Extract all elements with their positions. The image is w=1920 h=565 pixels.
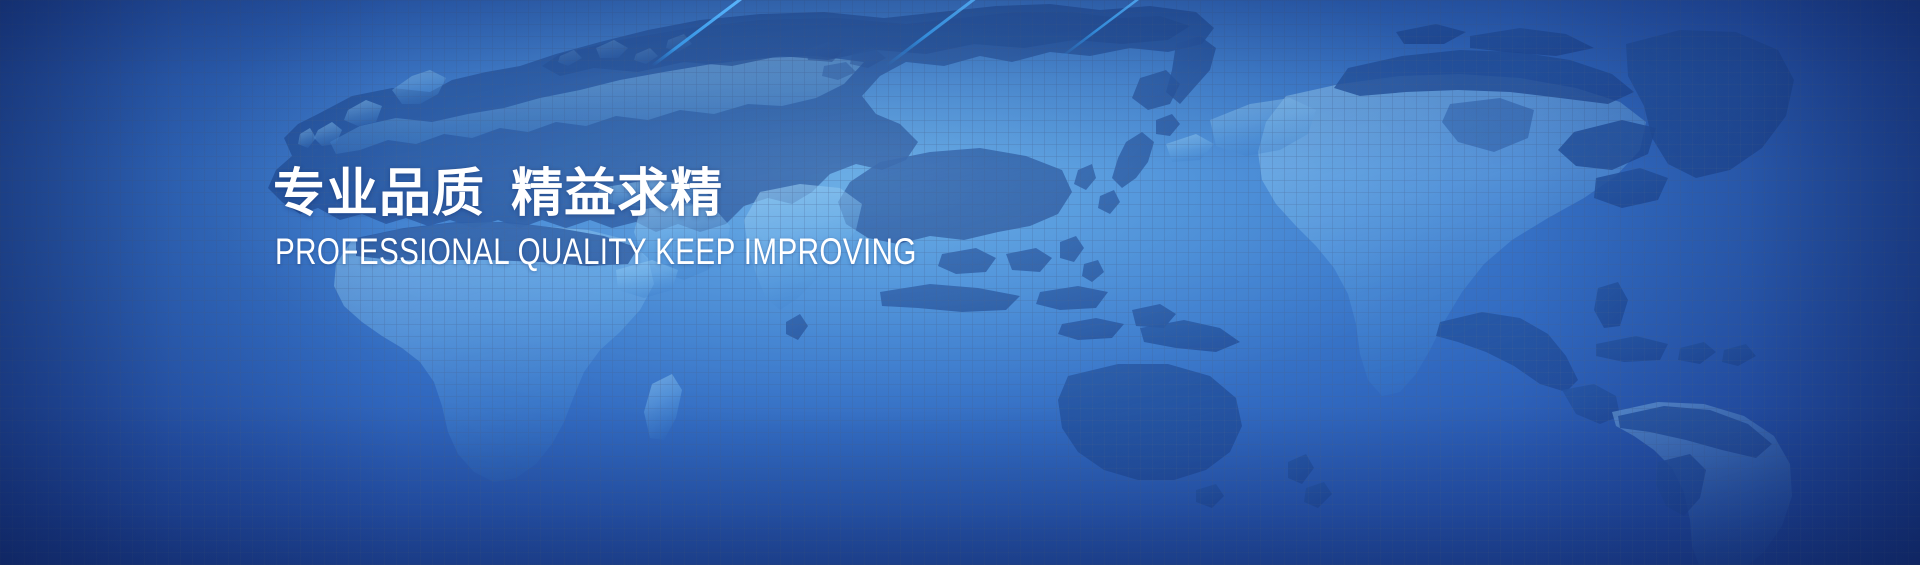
banner-subheadline-en: PROFESSIONAL QUALITY KEEP IMPROVING <box>275 230 917 274</box>
banner-headline-cn: 专业品质精益求精 <box>273 163 1077 225</box>
banner-copy: 专业品质精益求精 PROFESSIONAL QUALITY KEEP IMPRO… <box>273 163 1077 274</box>
headline-segment-2: 精益求精 <box>511 165 723 223</box>
headline-segment-1: 专业品质 <box>273 165 485 223</box>
horizontal-shade-overlay <box>0 0 1920 565</box>
hero-banner: 专业品质精益求精 PROFESSIONAL QUALITY KEEP IMPRO… <box>0 0 1920 565</box>
